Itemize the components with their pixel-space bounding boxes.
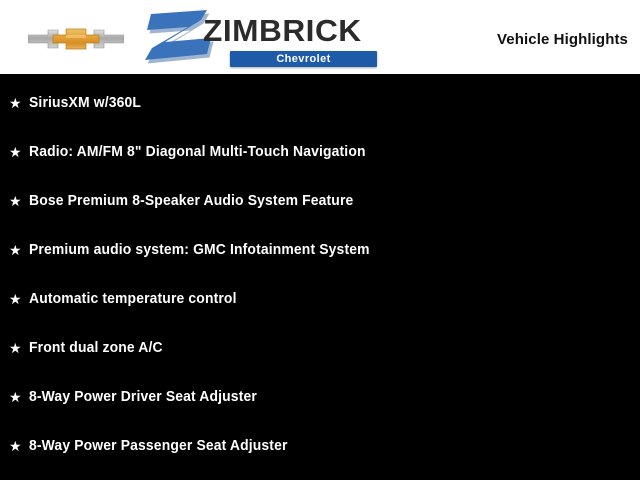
list-item: ★ Automatic temperature control (9, 287, 245, 311)
star-icon: ★ (9, 91, 29, 115)
page-title: Vehicle Highlights (497, 31, 628, 48)
star-icon: ★ (9, 336, 29, 360)
star-icon: ★ (9, 385, 29, 409)
chevrolet-bowtie-icon (28, 22, 124, 56)
chevrolet-sub-label: Chevrolet (230, 51, 377, 67)
list-item: ★ Front dual zone A/C (9, 336, 168, 360)
highlight-label: Bose Premium 8-Speaker Audio System Feat… (29, 189, 353, 213)
list-item: ★ 8-Way Power Passenger Seat Adjuster (9, 434, 298, 458)
list-item: ★ Premium audio system: GMC Infotainment… (9, 238, 384, 262)
list-item: ★ Bose Premium 8-Speaker Audio System Fe… (9, 189, 367, 213)
star-icon: ★ (9, 189, 29, 213)
vehicle-highlights-page: ZIMBRICK Chevrolet Vehicle Highlights ★ … (0, 0, 640, 480)
highlight-label: 8-Way Power Driver Seat Adjuster (29, 385, 257, 409)
list-item: ★ Radio: AM/FM 8" Diagonal Multi-Touch N… (9, 140, 380, 164)
highlight-label: SiriusXM w/360L (29, 91, 141, 115)
zimbrick-wordmark: ZIMBRICK (203, 15, 362, 46)
header-bar: ZIMBRICK Chevrolet Vehicle Highlights (0, 0, 640, 74)
star-icon: ★ (9, 238, 29, 262)
chevrolet-sub-bar: Chevrolet (230, 51, 377, 67)
highlight-label: Premium audio system: GMC Infotainment S… (29, 238, 370, 262)
list-item: ★ 8-Way Power Driver Seat Adjuster (9, 385, 266, 409)
zimbrick-logo: ZIMBRICK Chevrolet (141, 6, 373, 68)
highlight-label: Automatic temperature control (29, 287, 237, 311)
star-icon: ★ (9, 140, 29, 164)
star-icon: ★ (9, 287, 29, 311)
highlight-label: 8-Way Power Passenger Seat Adjuster (29, 434, 288, 458)
vehicle-highlights-list: ★ SiriusXM w/360L ★ Radio: AM/FM 8" Diag… (0, 74, 640, 480)
star-icon: ★ (9, 434, 29, 458)
highlight-label: Radio: AM/FM 8" Diagonal Multi-Touch Nav… (29, 140, 366, 164)
highlight-label: Front dual zone A/C (29, 336, 163, 360)
list-item: ★ SiriusXM w/360L (9, 91, 146, 115)
